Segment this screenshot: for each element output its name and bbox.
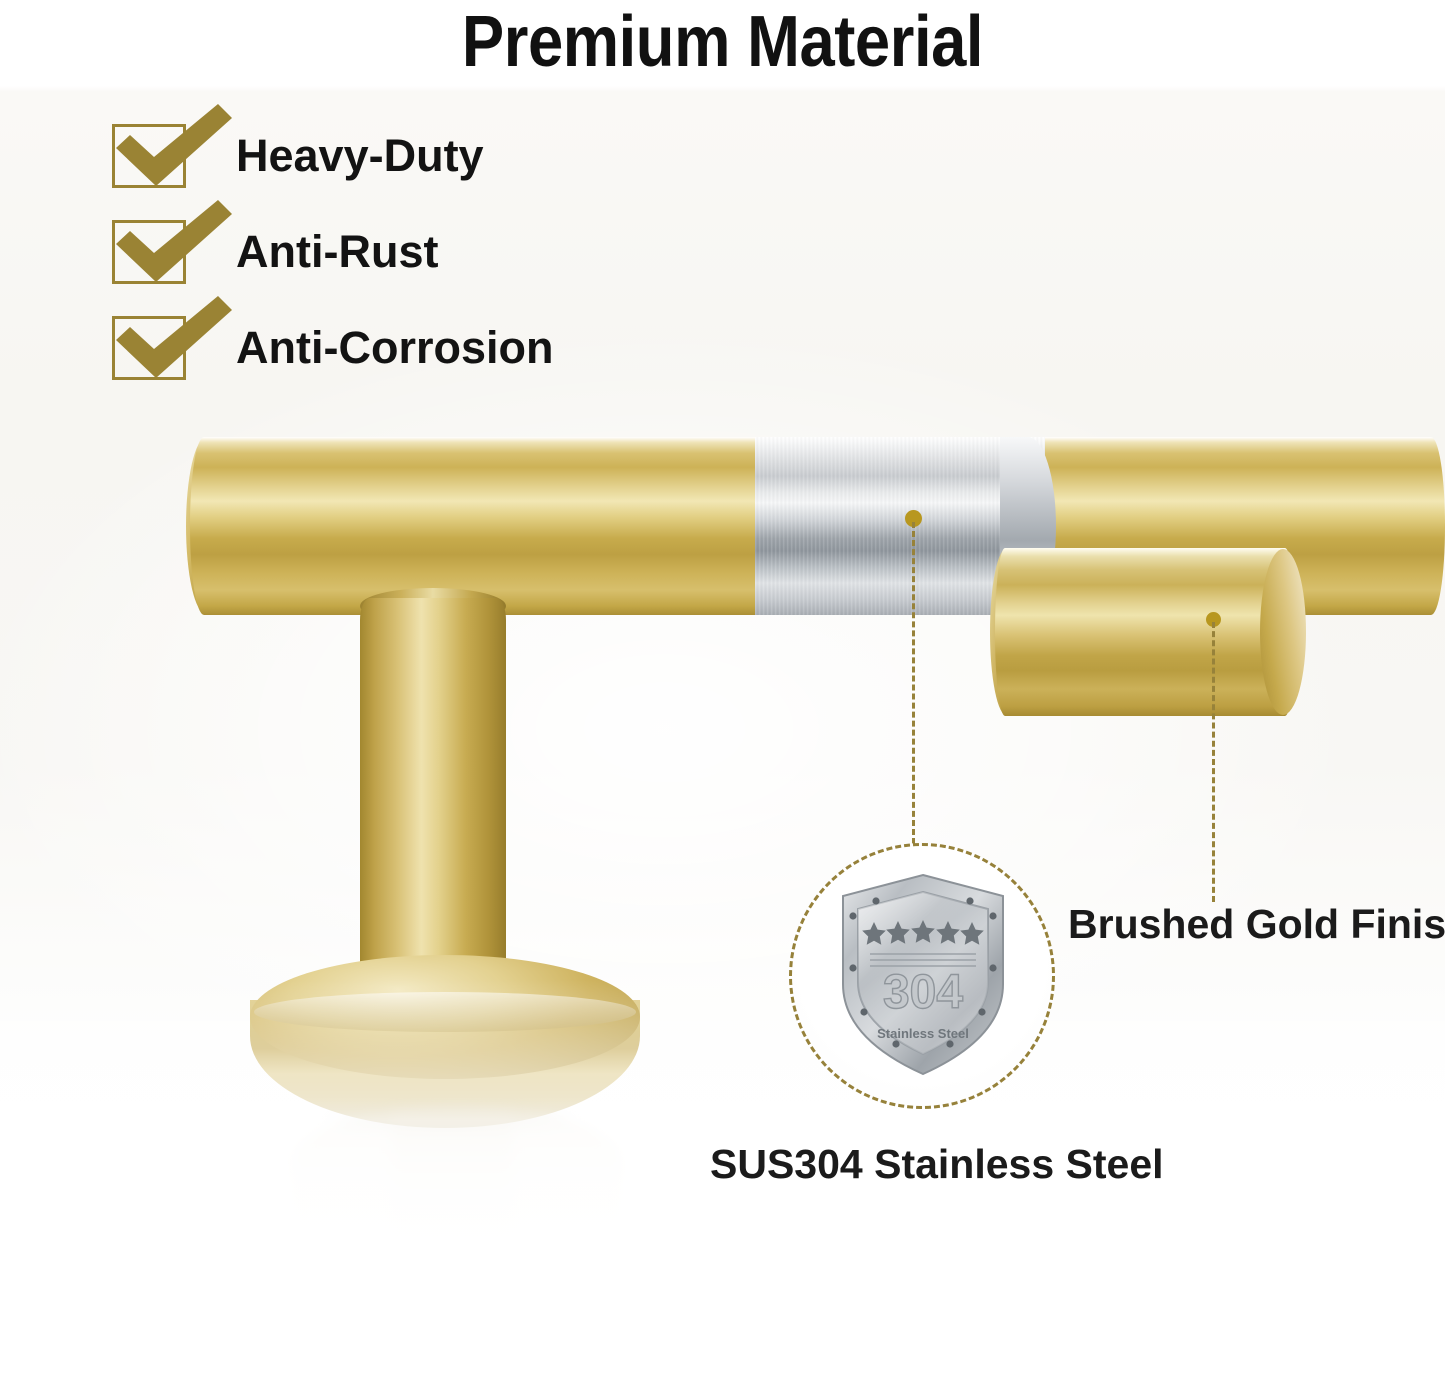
steel-callout-label: SUS304 Stainless Steel xyxy=(710,1140,1164,1188)
rear-rail xyxy=(190,437,1445,615)
bracket-post xyxy=(360,598,506,1030)
rear-rail-end-cap xyxy=(186,438,226,614)
bracket-post-top xyxy=(360,588,506,624)
base-reflection xyxy=(292,1105,622,1335)
post-reflection xyxy=(392,1110,512,1380)
shield-badge-icon: 304 Stainless Steel xyxy=(838,872,1008,1077)
feature-item-label: Anti-Rust xyxy=(236,214,438,290)
badge-caption-text: Stainless Steel xyxy=(877,1026,969,1041)
contact-shadow xyxy=(262,1090,634,1146)
base-flange-side xyxy=(250,1000,640,1128)
steel-band xyxy=(755,437,1045,615)
feature-item-label: Heavy-Duty xyxy=(236,118,484,194)
page-title: Premium Material xyxy=(87,2,1359,82)
checkbox-checked-icon xyxy=(110,198,240,290)
badge-grade-text: 304 xyxy=(883,966,963,1019)
gold-callout-leader-line xyxy=(1212,622,1215,902)
checkbox-checked-icon xyxy=(110,294,240,386)
front-rail-left-cap xyxy=(990,548,1024,716)
feature-item-label: Anti-Corrosion xyxy=(236,310,553,386)
checkbox-checked-icon xyxy=(110,102,240,194)
base-flange-top xyxy=(250,955,640,1079)
gold-callout-label: Brushed Gold Finish xyxy=(1068,900,1445,948)
front-rail-right-cap xyxy=(1260,549,1306,715)
infographic-canvas: Premium Material Heavy-Duty Anti-Rust An… xyxy=(0,0,1445,1392)
front-rail xyxy=(995,548,1295,716)
steel-callout-leader-line xyxy=(912,522,915,844)
steel-band-edge xyxy=(1000,437,1056,615)
base-flange-rim xyxy=(254,992,636,1032)
